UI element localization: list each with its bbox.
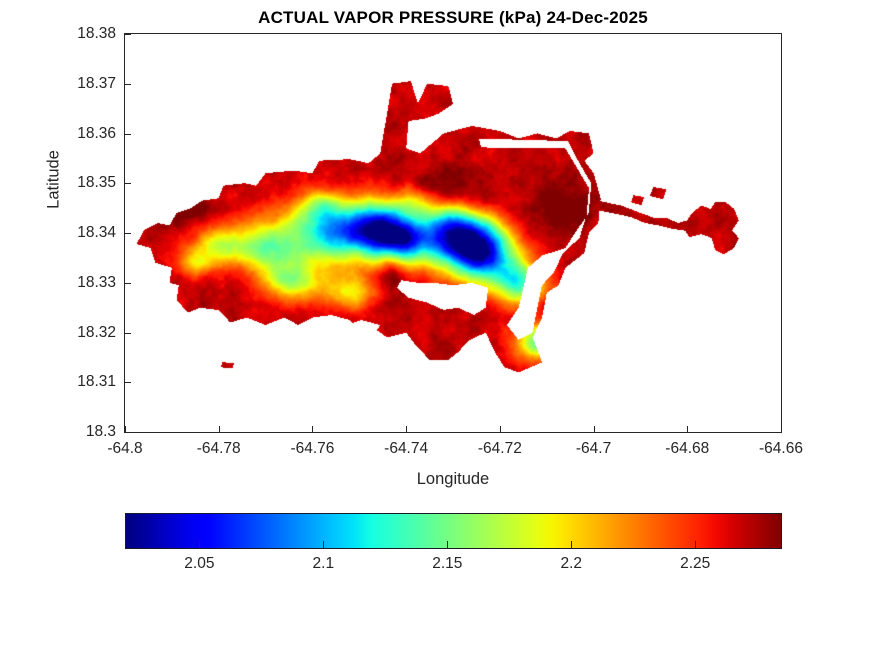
x-tick — [312, 426, 313, 433]
y-tick — [124, 333, 131, 334]
x-tick-label: -64.66 — [731, 441, 831, 457]
x-tick — [500, 426, 501, 433]
x-tick — [219, 426, 220, 433]
colorbar-tick-label: 2.05 — [149, 556, 249, 572]
colorbar — [125, 513, 782, 549]
colorbar-tick-label: 2.1 — [273, 556, 373, 572]
colorbar-gradient — [125, 513, 782, 549]
x-tick-label: -64.7 — [544, 441, 644, 457]
x-tick — [125, 426, 126, 433]
colorbar-tick — [323, 541, 324, 549]
y-tick-label: 18.3 — [0, 424, 116, 440]
colorbar-tick — [447, 541, 448, 549]
y-tick — [124, 34, 131, 35]
colorbar-tick — [571, 541, 572, 549]
map-axes — [124, 33, 782, 433]
y-tick — [124, 382, 131, 383]
x-tick-label: -64.76 — [262, 441, 362, 457]
x-tick-label: -64.72 — [450, 441, 550, 457]
matlab-figure: ACTUAL VAPOR PRESSURE (kPa) 24-Dec-2025 … — [0, 0, 875, 656]
vapor-pressure-raster — [125, 34, 781, 432]
x-tick-label: -64.8 — [75, 441, 175, 457]
x-axis-label: Longitude — [124, 470, 782, 489]
colorbar-tick — [695, 541, 696, 549]
colorbar-tick — [199, 541, 200, 549]
x-tick — [594, 426, 595, 433]
y-tick-label: 18.32 — [0, 325, 116, 341]
x-tick-label: -64.68 — [637, 441, 737, 457]
colorbar-tick-label: 2.2 — [521, 556, 621, 572]
x-tick — [687, 426, 688, 433]
y-tick-label: 18.31 — [0, 374, 116, 390]
y-tick — [124, 84, 131, 85]
x-tick-label: -64.78 — [169, 441, 269, 457]
y-tick-label: 18.37 — [0, 76, 116, 92]
y-axis-label: Latitude — [45, 120, 64, 240]
y-tick — [124, 283, 131, 284]
colorbar-tick-label: 2.25 — [645, 556, 745, 572]
y-tick — [124, 233, 131, 234]
page-title: ACTUAL VAPOR PRESSURE (kPa) 24-Dec-2025 — [124, 8, 782, 28]
y-tick — [124, 134, 131, 135]
x-tick-label: -64.74 — [356, 441, 456, 457]
y-tick-label: 18.38 — [0, 26, 116, 42]
colorbar-tick-label: 2.15 — [397, 556, 497, 572]
x-tick — [406, 426, 407, 433]
y-tick — [124, 183, 131, 184]
x-tick — [781, 426, 782, 433]
y-tick-label: 18.33 — [0, 275, 116, 291]
